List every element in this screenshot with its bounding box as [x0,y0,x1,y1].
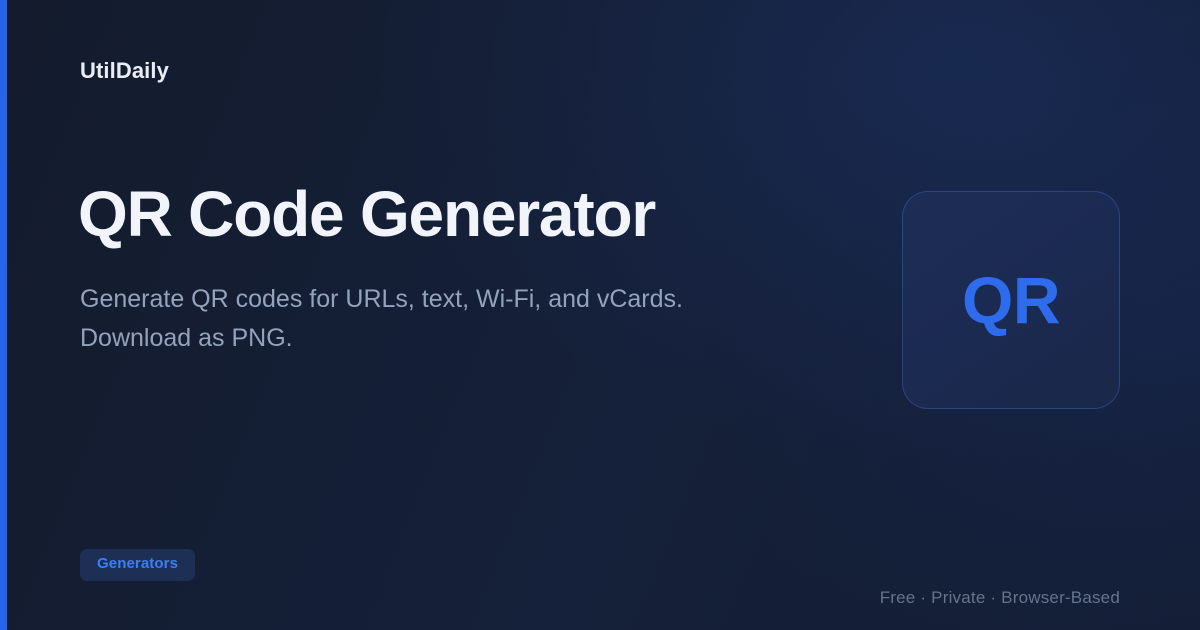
qr-icon: QR [962,267,1060,333]
brand-logo-text: UtilDaily [80,58,169,84]
page-subtitle: Generate QR codes for URLs, text, Wi-Fi,… [80,280,780,358]
left-accent-bar [0,0,7,630]
qr-tool-card: QR [902,191,1120,409]
og-preview-card: UtilDaily QR Code Generator Generate QR … [0,0,1200,630]
category-badge[interactable]: Generators [80,549,195,581]
page-title: QR Code Generator [78,181,655,248]
footer-tagline: Free · Private · Browser-Based [880,588,1120,608]
